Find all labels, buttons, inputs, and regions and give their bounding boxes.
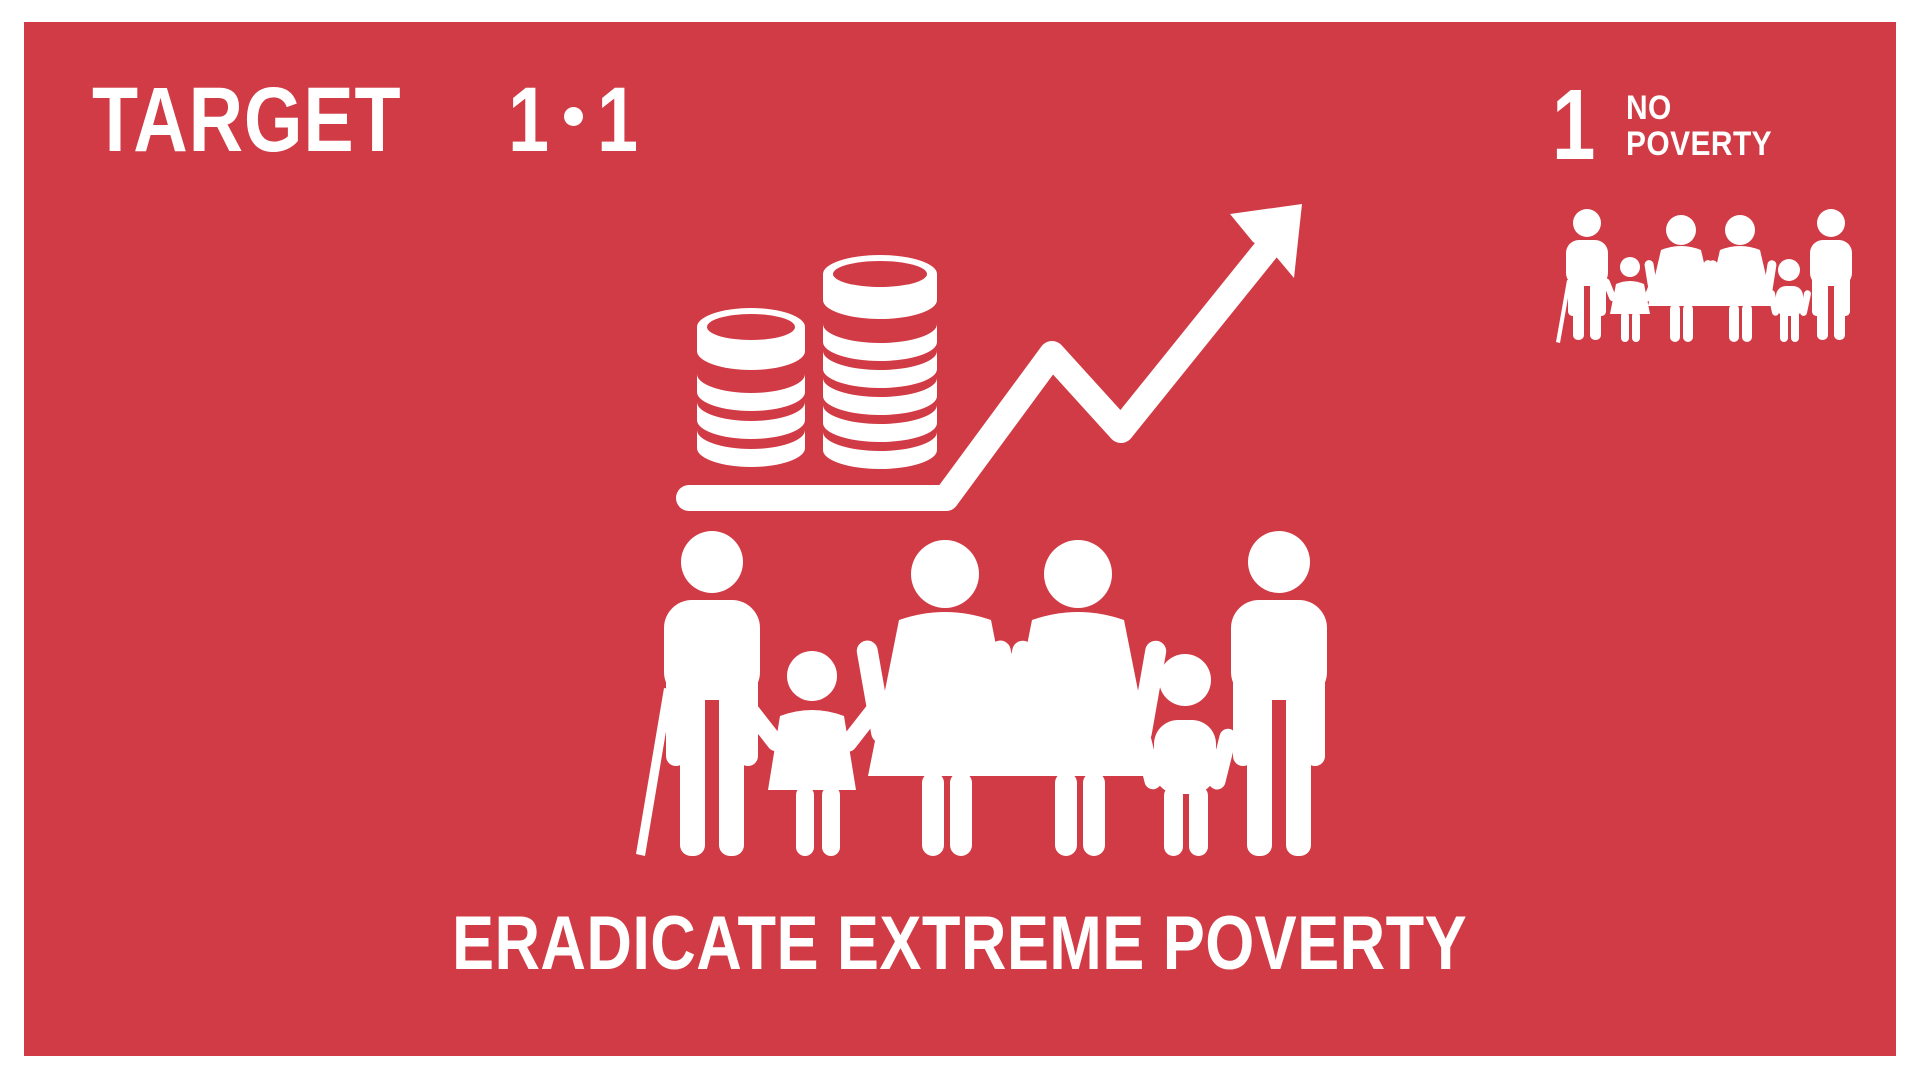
badge-goal-title: NO POVERTY <box>1626 84 1792 163</box>
figure-woman-2 <box>988 540 1168 856</box>
target-number-separator-dot <box>564 107 583 126</box>
target-number-second: 1 <box>597 74 638 166</box>
caption: ERADICATE EXTREME POVERTY <box>24 906 1896 982</box>
badge-heading: 1 NO POVERTY <box>1552 84 1872 166</box>
badge-title-line-2: POVERTY <box>1626 126 1772 162</box>
page-title: TARGET 1 1 <box>92 74 643 166</box>
target-number: 1 1 <box>503 74 642 166</box>
figure-man-with-cane <box>636 531 760 856</box>
badge-goal-number: 1 <box>1552 84 1595 166</box>
coin-stack-right <box>823 255 937 469</box>
title-word: TARGET <box>92 74 401 166</box>
family-group-icon <box>1554 208 1856 344</box>
target-number-first: 1 <box>508 74 549 166</box>
sdg-goal-badge: 1 NO POVERTY <box>1552 84 1872 384</box>
badge-title-line-1: NO <box>1626 90 1772 126</box>
poster-canvas: TARGET 1 1 1 NO POVERTY <box>24 22 1896 1056</box>
figure-man <box>1231 531 1327 856</box>
caption-text: ERADICATE EXTREME POVERTY <box>452 906 1467 982</box>
family-group-icon <box>634 528 1334 858</box>
coin-stack-left <box>697 308 805 467</box>
coin-stacks-with-rising-arrow-icon <box>634 198 1334 518</box>
hero-illustration <box>634 198 1334 858</box>
